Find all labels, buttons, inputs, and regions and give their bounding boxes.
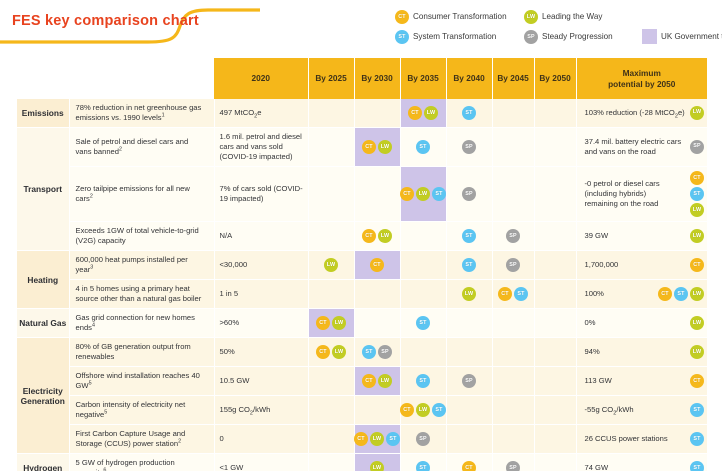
max-potential-wrapper: 100%CTSTLW: [585, 287, 705, 301]
legend-item-steady-progression: SP Steady Progression: [524, 28, 613, 45]
year-cell-2035: [400, 222, 446, 251]
ct-badge-icon: CT: [370, 258, 384, 272]
year-cell-2025: LW: [308, 251, 354, 280]
year-cell-2040: ST: [446, 222, 492, 251]
badge-group: CTLW: [309, 316, 354, 330]
max-potential-text: 0%: [585, 318, 688, 328]
year-cell-2040: ST: [446, 251, 492, 280]
value-2020-cell: <1 GW: [214, 454, 308, 471]
max-potential-cell: 26 CCUS power stationsST: [576, 425, 707, 454]
header-col-by-2025: By 2025: [308, 58, 354, 99]
fes-comparison-chart-page: FES key comparison chart CT Consumer Tra…: [0, 0, 722, 471]
year-cell-2035: ST: [400, 454, 446, 471]
year-cell-2035: SP: [400, 425, 446, 454]
year-cell-2040: LW: [446, 280, 492, 309]
ct-badge-icon: CT: [498, 287, 512, 301]
max-potential-cell: 103% reduction (-28 MtCO2e)LW: [576, 99, 707, 128]
max-potential-badges: LW: [690, 229, 704, 243]
year-cell-2045: [492, 367, 534, 396]
max-potential-wrapper: 113 GWCT: [585, 374, 705, 388]
year-cell-2045: SP: [492, 251, 534, 280]
ct-badge-icon: CT: [316, 316, 330, 330]
badge-group: ST: [447, 106, 492, 120]
sp-badge-icon: SP: [378, 345, 392, 359]
description-cell: Exceeds 1GW of total vehicle-to-grid (V2…: [69, 222, 214, 251]
max-potential-text: 39 GW: [585, 231, 688, 241]
st-badge-icon: ST: [690, 432, 704, 446]
st-badge-icon: ST: [514, 287, 528, 301]
table-head: 2020 By 2025 By 2030 By 2035 By 2040 By …: [17, 58, 707, 99]
year-cell-2025: [308, 454, 354, 471]
badge-group: LW: [447, 287, 492, 301]
badge-group: STSP: [355, 345, 400, 359]
description-cell: 600,000 heat pumps installed per year3: [69, 251, 214, 280]
max-potential-cell: 0%LW: [576, 309, 707, 338]
lw-badge-icon: LW: [332, 345, 346, 359]
max-potential-wrapper: -0 petrol or diesel cars (including hybr…: [585, 171, 705, 217]
year-cell-2030: CT: [354, 251, 400, 280]
table-row: Natural GasGas grid connection for new h…: [17, 309, 707, 338]
description-cell: Gas grid connection for new homes ends4: [69, 309, 214, 338]
sp-badge-icon: SP: [690, 140, 704, 154]
value-2020-cell: N/A: [214, 222, 308, 251]
description-cell: Carbon intensity of electricity net nega…: [69, 396, 214, 425]
table-body: Emissions78% reduction in net greenhouse…: [17, 99, 707, 471]
lw-badge-icon: LW: [690, 229, 704, 243]
max-potential-text: 103% reduction (-28 MtCO2e): [585, 108, 688, 118]
table-row: Heating600,000 heat pumps installed per …: [17, 251, 707, 280]
year-cell-2045: CTST: [492, 280, 534, 309]
year-cell-2040: [446, 309, 492, 338]
max-potential-text: 74 GW: [585, 463, 688, 471]
sp-badge-icon: SP: [416, 432, 430, 446]
lw-badge-icon: LW: [378, 229, 392, 243]
legend-label: UK Government target: [661, 32, 722, 41]
category-cell-transport: Transport: [17, 128, 69, 251]
year-cell-2050: [534, 222, 576, 251]
table-row: TransportSale of petrol and diesel cars …: [17, 128, 707, 167]
st-badge-icon: ST: [416, 374, 430, 388]
legend-label: Leading the Way: [542, 12, 602, 21]
badge-group: ST: [447, 258, 492, 272]
year-cell-2050: [534, 396, 576, 425]
ct-badge-icon: CT: [395, 10, 409, 24]
st-badge-icon: ST: [416, 140, 430, 154]
year-cell-2035: [400, 280, 446, 309]
year-cell-2035: ST: [400, 367, 446, 396]
max-potential-wrapper: 37.4 mil. battery electric cars and vans…: [585, 137, 705, 157]
max-potential-cell: 74 GWST: [576, 454, 707, 471]
max-potential-text: 113 GW: [585, 376, 688, 386]
value-2020-cell: 497 MtCO2e: [214, 99, 308, 128]
value-2020-cell: 1 in 5: [214, 280, 308, 309]
year-cell-2045: SP: [492, 222, 534, 251]
description-cell: 80% of GB generation output from renewab…: [69, 338, 214, 367]
year-cell-2050: [534, 280, 576, 309]
table-row: Hydrogen5 GW of hydrogen production capa…: [17, 454, 707, 471]
st-badge-icon: ST: [416, 316, 430, 330]
year-cell-2025: CTLW: [308, 338, 354, 367]
ct-badge-icon: CT: [690, 171, 704, 185]
badge-group: CTLWST: [401, 187, 446, 201]
lw-badge-icon: LW: [370, 432, 384, 446]
lw-badge-icon: LW: [332, 316, 346, 330]
description-cell: First Carbon Capture Usage and Storage (…: [69, 425, 214, 454]
badge-group: SP: [493, 229, 534, 243]
year-cell-2040: [446, 425, 492, 454]
comparison-table-wrapper: 2020 By 2025 By 2030 By 2035 By 2040 By …: [17, 58, 707, 471]
year-cell-2050: [534, 128, 576, 167]
st-badge-icon: ST: [432, 187, 446, 201]
ct-badge-icon: CT: [362, 229, 376, 243]
badge-group: CTLW: [401, 106, 446, 120]
table-row: Exceeds 1GW of total vehicle-to-grid (V2…: [17, 222, 707, 251]
header-row: 2020 By 2025 By 2030 By 2035 By 2040 By …: [17, 58, 707, 99]
header-description-blank: [69, 58, 214, 99]
lw-badge-icon: LW: [370, 461, 384, 471]
header-col-by-2035: By 2035: [400, 58, 446, 99]
year-cell-2030: [354, 280, 400, 309]
badge-group: CT: [355, 258, 400, 272]
table-row: Emissions78% reduction in net greenhouse…: [17, 99, 707, 128]
table-row: Carbon intensity of electricity net nega…: [17, 396, 707, 425]
description-cell: Offshore wind installation reaches 40 GW…: [69, 367, 214, 396]
year-cell-2030: CTLW: [354, 222, 400, 251]
header-col-by-2045: By 2045: [492, 58, 534, 99]
year-cell-2040: ST: [446, 99, 492, 128]
st-badge-icon: ST: [462, 258, 476, 272]
year-cell-2025: [308, 99, 354, 128]
value-2020-cell: 7% of cars sold (COVID-19 impacted): [214, 167, 308, 222]
page-header: FES key comparison chart CT Consumer Tra…: [0, 0, 722, 56]
st-badge-icon: ST: [462, 106, 476, 120]
ct-badge-icon: CT: [462, 461, 476, 471]
year-cell-2025: [308, 396, 354, 425]
lw-badge-icon: LW: [690, 287, 704, 301]
st-badge-icon: ST: [386, 432, 400, 446]
sp-badge-icon: SP: [506, 229, 520, 243]
legend-label: Steady Progression: [542, 32, 613, 41]
description-cell: 78% reduction in net greenhouse gas emis…: [69, 99, 214, 128]
max-potential-badges: ST: [690, 461, 704, 471]
ct-badge-icon: CT: [690, 258, 704, 272]
year-cell-2030: LW: [354, 454, 400, 471]
ct-badge-icon: CT: [316, 345, 330, 359]
max-potential-badges: CTSTLW: [658, 287, 704, 301]
sp-badge-icon: SP: [506, 258, 520, 272]
lw-badge-icon: LW: [324, 258, 338, 272]
year-cell-2030: [354, 396, 400, 425]
header-col-by-2040: By 2040: [446, 58, 492, 99]
ct-badge-icon: CT: [400, 403, 414, 417]
max-potential-badges: CTSTLW: [683, 171, 704, 217]
ct-badge-icon: CT: [400, 187, 414, 201]
value-2020-cell: 1.6 mil. petrol and diesel cars and vans…: [214, 128, 308, 167]
table-row: 4 in 5 homes using a primary heat source…: [17, 280, 707, 309]
year-cell-2030: [354, 167, 400, 222]
year-cell-2025: [308, 222, 354, 251]
lw-badge-icon: LW: [690, 345, 704, 359]
max-potential-wrapper: -55g CO2/kWhST: [585, 403, 705, 417]
year-cell-2050: [534, 425, 576, 454]
max-potential-wrapper: 74 GWST: [585, 461, 705, 471]
sp-badge-icon: SP: [462, 140, 476, 154]
st-badge-icon: ST: [462, 229, 476, 243]
year-cell-2025: [308, 425, 354, 454]
badge-group: ST: [401, 316, 446, 330]
ct-badge-icon: CT: [408, 106, 422, 120]
lw-badge-icon: LW: [524, 10, 538, 24]
st-badge-icon: ST: [432, 403, 446, 417]
legend: CT Consumer Transformation LW Leading th…: [395, 7, 715, 49]
year-cell-2025: [308, 280, 354, 309]
year-cell-2035: CTLW: [400, 99, 446, 128]
max-potential-wrapper: 0%LW: [585, 316, 705, 330]
max-potential-cell: 100%CTSTLW: [576, 280, 707, 309]
badge-group: LW: [355, 461, 400, 471]
st-badge-icon: ST: [395, 30, 409, 44]
year-cell-2040: SP: [446, 167, 492, 222]
category-cell-emissions: Emissions: [17, 99, 69, 128]
year-cell-2050: [534, 454, 576, 471]
ct-badge-icon: CT: [354, 432, 368, 446]
year-cell-2045: [492, 167, 534, 222]
year-cell-2030: [354, 309, 400, 338]
year-cell-2045: [492, 338, 534, 367]
max-potential-badges: CT: [690, 258, 704, 272]
max-potential-cell: 37.4 mil. battery electric cars and vans…: [576, 128, 707, 167]
year-cell-2030: CTLW: [354, 128, 400, 167]
max-potential-text: 94%: [585, 347, 688, 357]
legend-row-2: ST System Transformation SP Steady Progr…: [395, 28, 715, 45]
table-row: Offshore wind installation reaches 40 GW…: [17, 367, 707, 396]
year-cell-2050: [534, 99, 576, 128]
year-cell-2050: [534, 167, 576, 222]
badge-group: SP: [493, 461, 534, 471]
ct-badge-icon: CT: [362, 374, 376, 388]
max-potential-cell: 1,700,000CT: [576, 251, 707, 280]
description-cell: Sale of petrol and diesel cars and vans …: [69, 128, 214, 167]
year-cell-2030: [354, 99, 400, 128]
st-badge-icon: ST: [416, 461, 430, 471]
lw-badge-icon: LW: [690, 203, 704, 217]
lw-badge-icon: LW: [416, 187, 430, 201]
legend-item-leading-the-way: LW Leading the Way: [524, 8, 602, 25]
year-cell-2030: CTLWST: [354, 425, 400, 454]
year-cell-2045: SP: [492, 454, 534, 471]
year-cell-2050: [534, 251, 576, 280]
year-cell-2045: [492, 99, 534, 128]
category-cell-electricity-generation: Electricity Generation: [17, 338, 69, 454]
badge-group: SP: [447, 374, 492, 388]
legend-row-1: CT Consumer Transformation LW Leading th…: [395, 8, 715, 25]
year-cell-2030: STSP: [354, 338, 400, 367]
year-cell-2050: [534, 338, 576, 367]
badge-group: ST: [401, 140, 446, 154]
badge-group: ST: [401, 374, 446, 388]
header-col-by-2050: By 2050: [534, 58, 576, 99]
table-row: Electricity Generation80% of GB generati…: [17, 338, 707, 367]
legend-item-consumer-transformation: CT Consumer Transformation: [395, 8, 507, 25]
st-badge-icon: ST: [690, 403, 704, 417]
max-potential-cell: -55g CO2/kWhST: [576, 396, 707, 425]
max-potential-text: -55g CO2/kWh: [585, 405, 688, 415]
header-col-2020: 2020: [214, 58, 308, 99]
description-cell: 4 in 5 homes using a primary heat source…: [69, 280, 214, 309]
header-max-line1: Maximum: [623, 68, 661, 78]
value-2020-cell: 50%: [214, 338, 308, 367]
year-cell-2035: ST: [400, 309, 446, 338]
badge-group: CTLW: [355, 229, 400, 243]
gov-target-swatch-icon: [642, 29, 657, 44]
max-potential-badges: ST: [690, 403, 704, 417]
max-potential-cell: 113 GWCT: [576, 367, 707, 396]
max-potential-cell: 94%LW: [576, 338, 707, 367]
badge-group: SP: [493, 258, 534, 272]
max-potential-cell: -0 petrol or diesel cars (including hybr…: [576, 167, 707, 222]
badge-group: ST: [401, 461, 446, 471]
max-potential-text: 26 CCUS power stations: [585, 434, 688, 444]
value-2020-cell: <30,000: [214, 251, 308, 280]
header-max-line2: potential by 2050: [608, 79, 675, 89]
category-cell-hydrogen: Hydrogen: [17, 454, 69, 471]
badge-group: CTLW: [355, 140, 400, 154]
max-potential-wrapper: 1,700,000CT: [585, 258, 705, 272]
max-potential-badges: LW: [690, 345, 704, 359]
sp-badge-icon: SP: [506, 461, 520, 471]
st-badge-icon: ST: [674, 287, 688, 301]
year-cell-2050: [534, 367, 576, 396]
ct-badge-icon: CT: [690, 374, 704, 388]
year-cell-2040: [446, 396, 492, 425]
page-title: FES key comparison chart: [12, 13, 199, 29]
lw-badge-icon: LW: [378, 140, 392, 154]
year-cell-2045: [492, 128, 534, 167]
year-cell-2035: ST: [400, 128, 446, 167]
header-category-blank: [17, 58, 69, 99]
year-cell-2035: [400, 338, 446, 367]
header-col-by-2030: By 2030: [354, 58, 400, 99]
year-cell-2025: CTLW: [308, 309, 354, 338]
lw-badge-icon: LW: [424, 106, 438, 120]
year-cell-2040: SP: [446, 367, 492, 396]
category-cell-heating: Heating: [17, 251, 69, 309]
badge-group: CTLW: [309, 345, 354, 359]
max-potential-badges: ST: [690, 432, 704, 446]
description-cell: Zero tailpipe emissions for all new cars…: [69, 167, 214, 222]
max-potential-wrapper: 103% reduction (-28 MtCO2e)LW: [585, 106, 705, 120]
year-cell-2045: [492, 396, 534, 425]
badge-group: CTLWST: [355, 432, 400, 446]
max-potential-text: -0 petrol or diesel cars (including hybr…: [585, 179, 681, 209]
badge-group: ST: [447, 229, 492, 243]
max-potential-badges: CT: [690, 374, 704, 388]
comparison-table: 2020 By 2025 By 2030 By 2035 By 2040 By …: [17, 58, 707, 471]
st-badge-icon: ST: [690, 187, 704, 201]
ct-badge-icon: CT: [658, 287, 672, 301]
max-potential-wrapper: 94%LW: [585, 345, 705, 359]
ct-badge-icon: CT: [362, 140, 376, 154]
legend-item-system-transformation: ST System Transformation: [395, 28, 496, 45]
max-potential-wrapper: 26 CCUS power stationsST: [585, 432, 705, 446]
legend-label: System Transformation: [413, 32, 496, 41]
badge-group: CTST: [493, 287, 534, 301]
badge-group: CT: [447, 461, 492, 471]
year-cell-2035: CTLWST: [400, 167, 446, 222]
lw-badge-icon: LW: [378, 374, 392, 388]
max-potential-text: 100%: [585, 289, 656, 299]
year-cell-2030: CTLW: [354, 367, 400, 396]
year-cell-2050: [534, 309, 576, 338]
max-potential-badges: SP: [690, 140, 704, 154]
legend-item-uk-government-target: UK Government target: [642, 28, 722, 45]
year-cell-2035: CTLWST: [400, 396, 446, 425]
value-2020-cell: >60%: [214, 309, 308, 338]
sp-badge-icon: SP: [462, 187, 476, 201]
badge-group: SP: [447, 187, 492, 201]
max-potential-text: 37.4 mil. battery electric cars and vans…: [585, 137, 688, 157]
year-cell-2045: [492, 425, 534, 454]
year-cell-2045: [492, 309, 534, 338]
sp-badge-icon: SP: [524, 30, 538, 44]
header-col-maximum-potential: Maximum potential by 2050: [576, 58, 707, 99]
value-2020-cell: 0: [214, 425, 308, 454]
sp-badge-icon: SP: [462, 374, 476, 388]
year-cell-2025: [308, 367, 354, 396]
max-potential-text: 1,700,000: [585, 260, 688, 270]
category-cell-natural-gas: Natural Gas: [17, 309, 69, 338]
year-cell-2035: [400, 251, 446, 280]
lw-badge-icon: LW: [690, 316, 704, 330]
max-potential-badges: LW: [690, 106, 704, 120]
year-cell-2025: [308, 167, 354, 222]
badge-group: LW: [309, 258, 354, 272]
lw-badge-icon: LW: [462, 287, 476, 301]
year-cell-2040: CT: [446, 454, 492, 471]
table-row: Zero tailpipe emissions for all new cars…: [17, 167, 707, 222]
st-badge-icon: ST: [362, 345, 376, 359]
legend-label: Consumer Transformation: [413, 12, 507, 21]
badge-group: CTLWST: [401, 403, 446, 417]
year-cell-2040: [446, 338, 492, 367]
badge-group: CTLW: [355, 374, 400, 388]
badge-group: SP: [447, 140, 492, 154]
year-cell-2040: SP: [446, 128, 492, 167]
st-badge-icon: ST: [690, 461, 704, 471]
lw-badge-icon: LW: [690, 106, 704, 120]
lw-badge-icon: LW: [416, 403, 430, 417]
value-2020-cell: 155g CO2/kWh: [214, 396, 308, 425]
max-potential-badges: LW: [690, 316, 704, 330]
year-cell-2025: [308, 128, 354, 167]
description-cell: 5 GW of hydrogen production capacity6: [69, 454, 214, 471]
max-potential-cell: 39 GWLW: [576, 222, 707, 251]
table-row: First Carbon Capture Usage and Storage (…: [17, 425, 707, 454]
badge-group: SP: [401, 432, 446, 446]
max-potential-wrapper: 39 GWLW: [585, 229, 705, 243]
value-2020-cell: 10.5 GW: [214, 367, 308, 396]
